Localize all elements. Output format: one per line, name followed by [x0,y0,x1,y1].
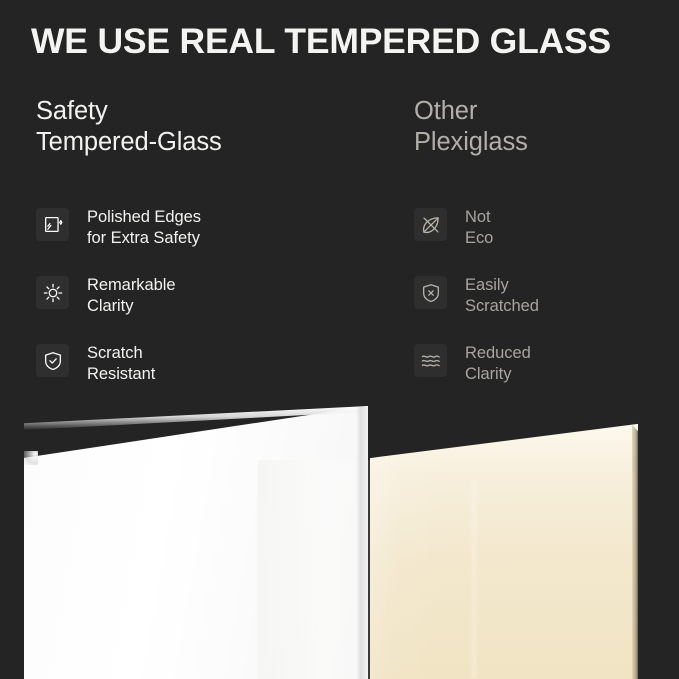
feature-label-line2: Resistant [87,364,155,385]
plexiglass-edge [632,422,639,679]
comparison-column-plexiglass: Other Plexiglass Not Eco [414,96,679,158]
feature-label-line1: Reduced [465,344,531,362]
leaf-crossed-out-icon [414,208,447,241]
feature-label-line2: Clarity [465,364,531,385]
column-heading-tempered-glass: Safety Tempered-Glass [36,96,336,158]
column-heading-line1: Other [414,97,477,125]
column-heading-line2: Plexiglass [414,127,679,158]
tempered-glass-reflection [258,460,370,679]
feature-label-line2: Eco [465,228,493,249]
shield-check-icon [36,344,69,377]
feature-row: Polished Edges for Extra Safety [36,205,336,273]
feature-label-line1: Scratch [87,344,143,362]
product-photo [0,398,679,679]
tempered-glass-right-edge [356,407,368,679]
feature-label-line2: Clarity [87,296,175,317]
feature-list-plexiglass: Not Eco Easily Scratched [414,205,679,409]
plexiglass-sheet [370,416,638,679]
feature-label-line1: Polished Edges [87,208,201,226]
page-title: WE USE REAL TEMPERED GLASS [31,21,651,63]
column-heading-plexiglass: Other Plexiglass [414,96,679,158]
feature-label: Remarkable Clarity [87,273,175,317]
promo-graphic: WE USE REAL TEMPERED GLASS Safety Temper… [0,0,679,679]
feature-label: Not Eco [465,205,493,249]
feature-row: Remarkable Clarity [36,273,336,341]
feature-label-line2: for Extra Safety [87,228,201,249]
feature-label: Easily Scratched [465,273,539,317]
feature-row: Not Eco [414,205,679,273]
feature-list-tempered-glass: Polished Edges for Extra Safety [36,205,336,409]
comparison-column-tempered-glass: Safety Tempered-Glass Polished Edges [36,96,336,158]
column-heading-line2: Tempered-Glass [36,127,336,158]
feature-label: Polished Edges for Extra Safety [87,205,201,249]
shield-x-icon [414,276,447,309]
polished-edge-sparkle-icon [36,208,69,241]
feature-row: Easily Scratched [414,273,679,341]
sun-brightness-icon [36,276,69,309]
feature-label-line1: Remarkable [87,276,175,294]
feature-label-line1: Not [465,208,491,226]
feature-label: Reduced Clarity [465,341,531,385]
feature-label: Scratch Resistant [87,341,155,385]
feature-label-line2: Scratched [465,296,539,317]
tempered-glass-corner-highlight [24,451,38,465]
plexiglass-reflection [470,480,479,678]
feature-label-line1: Easily [465,276,509,294]
column-heading-line1: Safety [36,97,108,125]
comparison-section: Safety Tempered-Glass Polished Edges [0,96,679,396]
wavy-lines-icon [414,344,447,377]
